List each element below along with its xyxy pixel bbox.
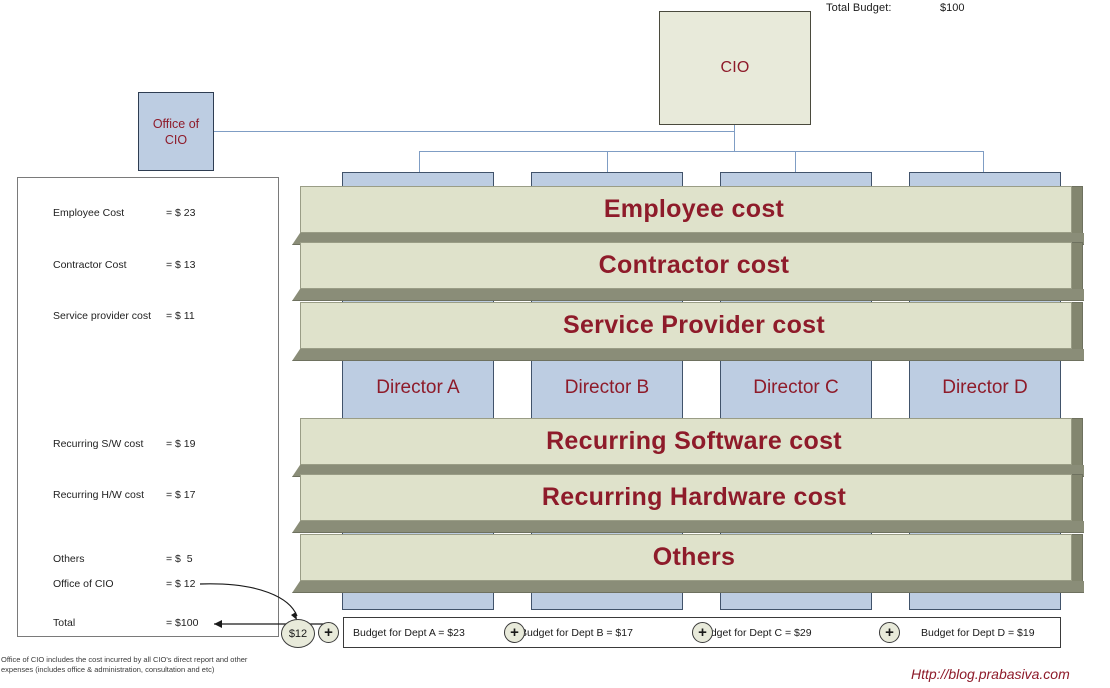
- budget-item: Budget for Dept A = $23: [353, 618, 465, 647]
- plus-icon-2-glyph: +: [698, 625, 707, 640]
- cost-band[interactable]: Contractor cost: [292, 242, 1084, 301]
- footnote: Office of CIO includes the cost incurred…: [1, 655, 401, 675]
- plus-icon-1: +: [504, 622, 525, 643]
- connector-office-to-cio: [214, 131, 735, 132]
- office-of-cio-label-line1: Office of: [153, 117, 199, 131]
- cost-band-front-face: Recurring Software cost: [300, 418, 1072, 465]
- cost-band-label: Contractor cost: [599, 251, 790, 280]
- legend-row-value: = $ 5: [166, 553, 193, 565]
- connector-drop-d: [983, 151, 984, 173]
- office-of-cio-amount-circle: $12: [281, 619, 315, 648]
- budget-item-label: Budget for Dept D = $19: [921, 627, 1035, 639]
- connector-drop-c: [795, 151, 796, 173]
- office-of-cio-amount-label: $12: [289, 628, 307, 640]
- cost-band-bottom-face: [292, 289, 1084, 301]
- legend-row-name: Others: [53, 553, 85, 565]
- cost-band-front-face: Contractor cost: [300, 242, 1072, 289]
- footnote-line-1: Office of CIO includes the cost incurred…: [1, 655, 401, 665]
- cost-band-label: Employee cost: [604, 195, 784, 224]
- cost-band-front-face: Service Provider cost: [300, 302, 1072, 349]
- legend-row-value: = $ 19: [166, 438, 196, 450]
- total-budget-value: $100: [940, 2, 964, 14]
- blog-url[interactable]: Http://blog.prabasiva.com: [911, 666, 1070, 682]
- connector-drop-a: [419, 151, 420, 173]
- office-of-cio-node[interactable]: Office ofCIO: [138, 92, 214, 171]
- connector-bus: [419, 151, 983, 152]
- legend-row-name: Employee Cost: [53, 207, 124, 219]
- diagram-canvas: Total Budget: $100 CIO Office ofCIO Dire…: [0, 0, 1110, 688]
- cost-band[interactable]: Recurring Hardware cost: [292, 474, 1084, 533]
- cio-node-label: CIO: [720, 59, 749, 77]
- footnote-line-2: expenses (includes office & administrati…: [1, 665, 401, 675]
- budget-item-label: Budget for Dept A = $23: [353, 627, 465, 639]
- office-of-cio-label-line2: CIO: [165, 133, 187, 147]
- legend-row-value: = $ 23: [166, 207, 196, 219]
- plus-icon-3: +: [879, 622, 900, 643]
- cost-legend-panel: Employee Cost= $ 23Contractor Cost= $ 13…: [17, 177, 279, 637]
- cost-band[interactable]: Others: [292, 534, 1084, 593]
- budget-item-label: Budget for Dept B = $17: [520, 627, 633, 639]
- cost-band-label: Recurring Hardware cost: [542, 483, 846, 512]
- cost-band-front-face: Recurring Hardware cost: [300, 474, 1072, 521]
- budget-item: Budget for Dept C = $29: [698, 618, 812, 647]
- legend-row-value: = $ 11: [166, 310, 195, 322]
- cio-node[interactable]: CIO: [659, 11, 811, 125]
- legend-row-value: = $ 12: [166, 578, 196, 590]
- cost-band-bottom-face: [292, 581, 1084, 593]
- connector-cio-stem: [734, 125, 735, 151]
- legend-row-value: = $100: [166, 617, 198, 629]
- cost-band[interactable]: Service Provider cost: [292, 302, 1084, 361]
- plus-icon-2: +: [692, 622, 713, 643]
- cost-band-label: Service Provider cost: [563, 311, 825, 340]
- legend-row-value: = $ 13: [166, 259, 196, 271]
- legend-row-name: Contractor Cost: [53, 259, 127, 271]
- legend-row-name: Service provider cost: [53, 310, 151, 322]
- legend-row-name: Recurring S/W cost: [53, 438, 143, 450]
- cost-band-bottom-face: [292, 349, 1084, 361]
- cost-band-label: Recurring Software cost: [546, 427, 842, 456]
- connector-drop-b: [607, 151, 608, 173]
- legend-row-value: = $ 17: [166, 489, 196, 501]
- budget-item: Budget for Dept B = $17: [520, 618, 633, 647]
- legend-row-name: Total: [53, 617, 75, 629]
- cost-band[interactable]: Recurring Software cost: [292, 418, 1084, 477]
- cost-band-label: Others: [653, 543, 735, 572]
- budget-item: Budget for Dept D = $19: [921, 618, 1035, 647]
- total-budget-label: Total Budget:: [826, 2, 892, 14]
- budget-item-label: Budget for Dept C = $29: [698, 627, 812, 639]
- plus-icon-3-glyph: +: [885, 625, 894, 640]
- cost-band-bottom-face: [292, 521, 1084, 533]
- plus-icon-0-glyph: +: [324, 625, 333, 640]
- legend-row-name: Recurring H/W cost: [53, 489, 144, 501]
- legend-row-name: Office of CIO: [53, 578, 114, 590]
- plus-icon-0: +: [318, 622, 339, 643]
- plus-icon-1-glyph: +: [510, 625, 519, 640]
- cost-band[interactable]: Employee cost: [292, 186, 1084, 245]
- cost-band-front-face: Employee cost: [300, 186, 1072, 233]
- cost-band-front-face: Others: [300, 534, 1072, 581]
